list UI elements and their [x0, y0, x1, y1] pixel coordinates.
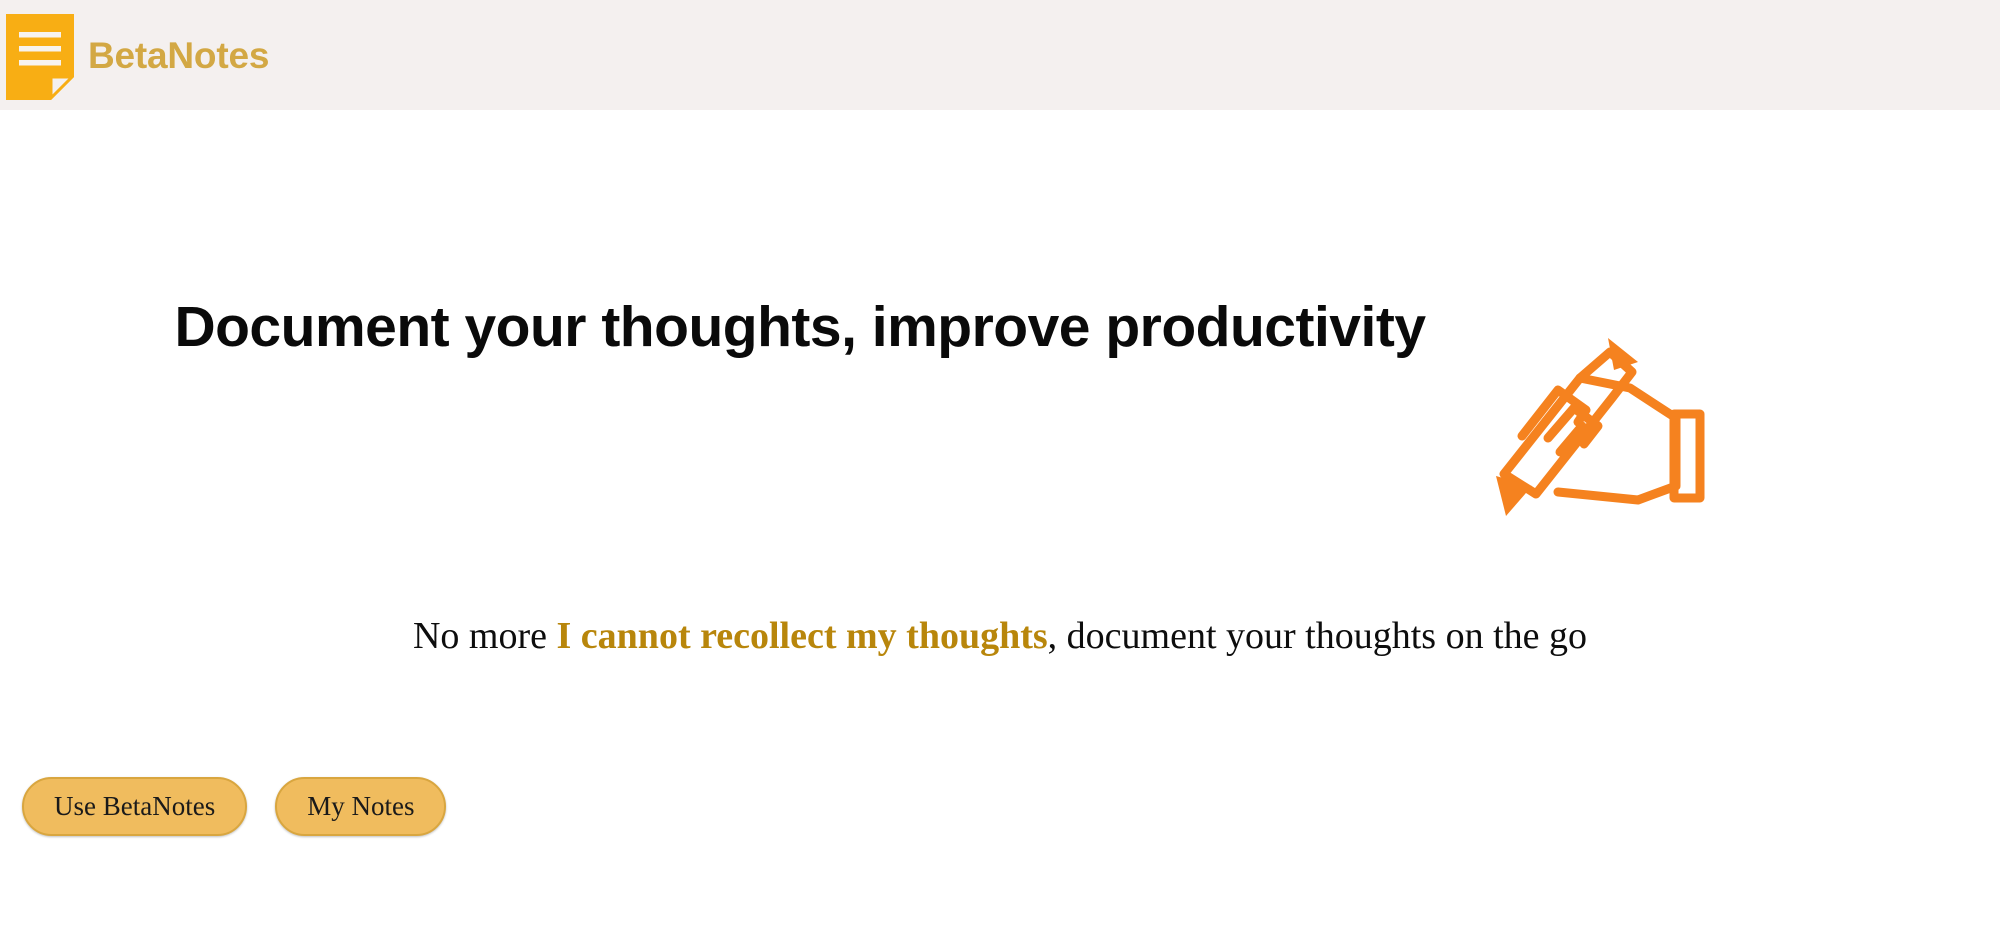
hero-section: Document your thoughts, improve producti…	[0, 110, 2000, 938]
page-title: Document your thoughts, improve producti…	[140, 294, 1460, 360]
cta-button-row: Use BetaNotes My Notes	[22, 777, 446, 836]
subtitle-part-before: No more	[413, 615, 557, 657]
hero-subtitle: No more I cannot recollect my thoughts, …	[140, 613, 1860, 661]
subtitle-part-after: , document your thoughts on the go	[1048, 615, 1587, 657]
brand-name-text: BetaNotes	[88, 37, 269, 74]
hand-holding-pencil-icon	[1462, 326, 1722, 526]
brand-logo-link[interactable]: BetaNotes	[0, 0, 269, 110]
note-lines-icon	[6, 14, 74, 100]
subtitle-highlight: I cannot recollect my thoughts	[557, 615, 1048, 657]
my-notes-button[interactable]: My Notes	[275, 777, 446, 836]
use-betanotes-button[interactable]: Use BetaNotes	[22, 777, 247, 836]
app-header: BetaNotes	[0, 0, 2000, 110]
